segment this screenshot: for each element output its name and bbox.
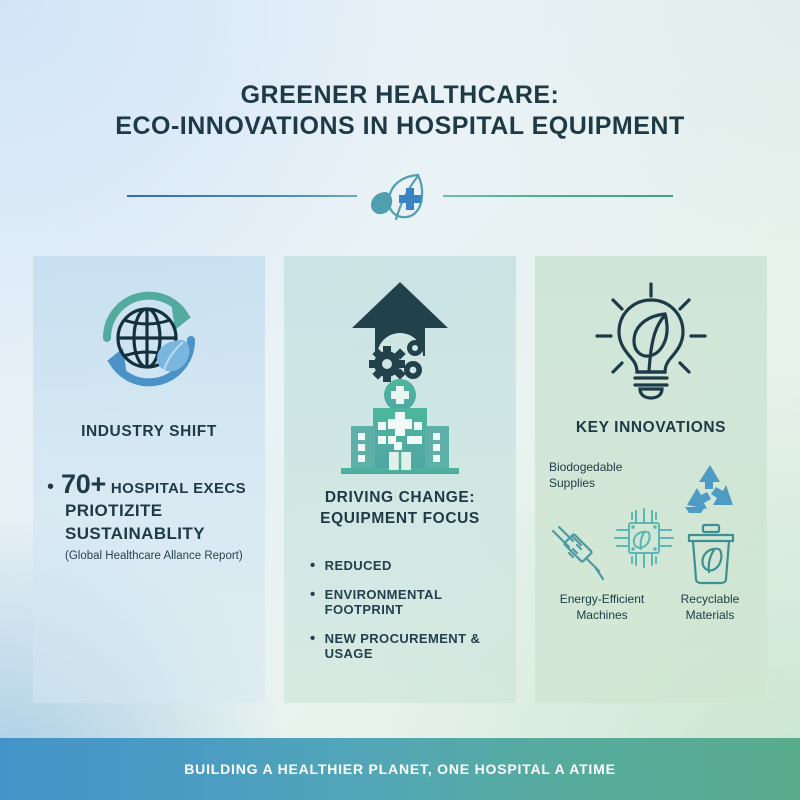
panel-heading-line-2: EQUIPMENT FOCUS xyxy=(320,509,480,530)
mini-label-biodegradable-supplies: Biodogedable Supplies xyxy=(549,459,657,491)
panel-driving-change: DRIVING CHANGE: EQUIPMENT FOCUS • REDUCE… xyxy=(284,256,516,703)
page-title-line-2: ECO-INNOVATIONS IN HOSPITAL EQUIPMENT xyxy=(0,111,800,142)
panel-key-innovations: KEY INNOVATIONS Biodogedable Supplies xyxy=(535,256,767,703)
hospital-arrow-gears-icon xyxy=(325,278,475,474)
mini-label-recyclable-materials: Recyclable Materials xyxy=(661,591,759,623)
mini-label-line-1: Biodogedable xyxy=(549,459,657,475)
microchip-leaf-icon xyxy=(613,507,675,574)
stat-block: • 70+ HOSPITAL EXECS PRIOTIZITE SUSTAINA… xyxy=(33,469,265,562)
footer-tagline: BUILDING A HEALTHIER PLANET, ONE HOSPITA… xyxy=(184,761,615,777)
stat-primary-line: • 70+ HOSPITAL EXECS xyxy=(47,469,249,500)
divider-rule-left xyxy=(127,195,357,197)
mini-label-line-2: Supplies xyxy=(549,475,657,491)
bullet-dot-icon: • xyxy=(310,558,316,574)
panel-industry-shift: INDUSTRY SHIFT • 70+ HOSPITAL EXECS PRIO… xyxy=(33,256,265,703)
trash-bin-leaf-icon xyxy=(683,523,739,590)
bullet-list: • REDUCED • ENVIRONMENTAL FOOTPRINT • NE… xyxy=(284,558,516,675)
mini-label-line-2: Materials xyxy=(661,607,759,623)
divider-rule-right xyxy=(443,195,673,197)
bullet-dot-icon: • xyxy=(310,587,316,603)
header-divider xyxy=(0,168,800,224)
globe-recycle-leaf-icon xyxy=(85,278,213,400)
list-item-label: ENVIRONMENTAL FOOTPRINT xyxy=(325,587,504,618)
list-item: • ENVIRONMENTAL FOOTPRINT xyxy=(310,587,504,618)
stat-number: 70+ xyxy=(61,469,106,500)
stat-unit: HOSPITAL EXECS xyxy=(111,480,246,497)
panel-heading-driving-change: DRIVING CHANGE: EQUIPMENT FOCUS xyxy=(320,488,480,530)
footer-banner: BUILDING A HEALTHIER PLANET, ONE HOSPITA… xyxy=(0,738,800,800)
panel-heading-line-1: DRIVING CHANGE: xyxy=(320,488,480,509)
mini-label-line-2: Machines xyxy=(543,607,661,623)
syringe-icon xyxy=(547,525,607,590)
bullet-dot-icon: • xyxy=(310,631,316,647)
stat-word-line-2: SUSTAINABLITY xyxy=(65,523,249,546)
page-title-line-1: GREENER HEALTHCARE: xyxy=(0,80,800,111)
leaf-medical-cross-icon xyxy=(357,168,443,224)
list-item-label: NEW PROCUREMENT & USAGE xyxy=(325,631,504,662)
panel-row: INDUSTRY SHIFT • 70+ HOSPITAL EXECS PRIO… xyxy=(33,256,767,703)
header: GREENER HEALTHCARE: ECO-INNOVATIONS IN H… xyxy=(0,80,800,143)
mini-label-line-1: Recyclable xyxy=(661,591,759,607)
lightbulb-leaf-icon xyxy=(587,278,715,400)
innovation-icon-grid: Biodogedable Supplies xyxy=(535,455,767,655)
list-item: • REDUCED xyxy=(310,558,504,574)
panel-heading-industry-shift: INDUSTRY SHIFT xyxy=(81,422,217,443)
list-item-label: REDUCED xyxy=(325,558,392,574)
stat-source: (Global Healthcare Allance Report) xyxy=(65,550,249,562)
mini-label-energy-efficient-machines: Energy-Efficient Machines xyxy=(543,591,661,623)
list-item: • NEW PROCUREMENT & USAGE xyxy=(310,631,504,662)
stat-word-line-1: PRIOTIZITE xyxy=(65,500,249,523)
recycle-icon xyxy=(683,463,737,520)
stat-bullet-icon: • xyxy=(47,477,54,497)
infographic-canvas: GREENER HEALTHCARE: ECO-INNOVATIONS IN H… xyxy=(0,0,800,800)
mini-label-line-1: Energy-Efficient xyxy=(543,591,661,607)
panel-heading-key-innovations: KEY INNOVATIONS xyxy=(576,418,726,439)
